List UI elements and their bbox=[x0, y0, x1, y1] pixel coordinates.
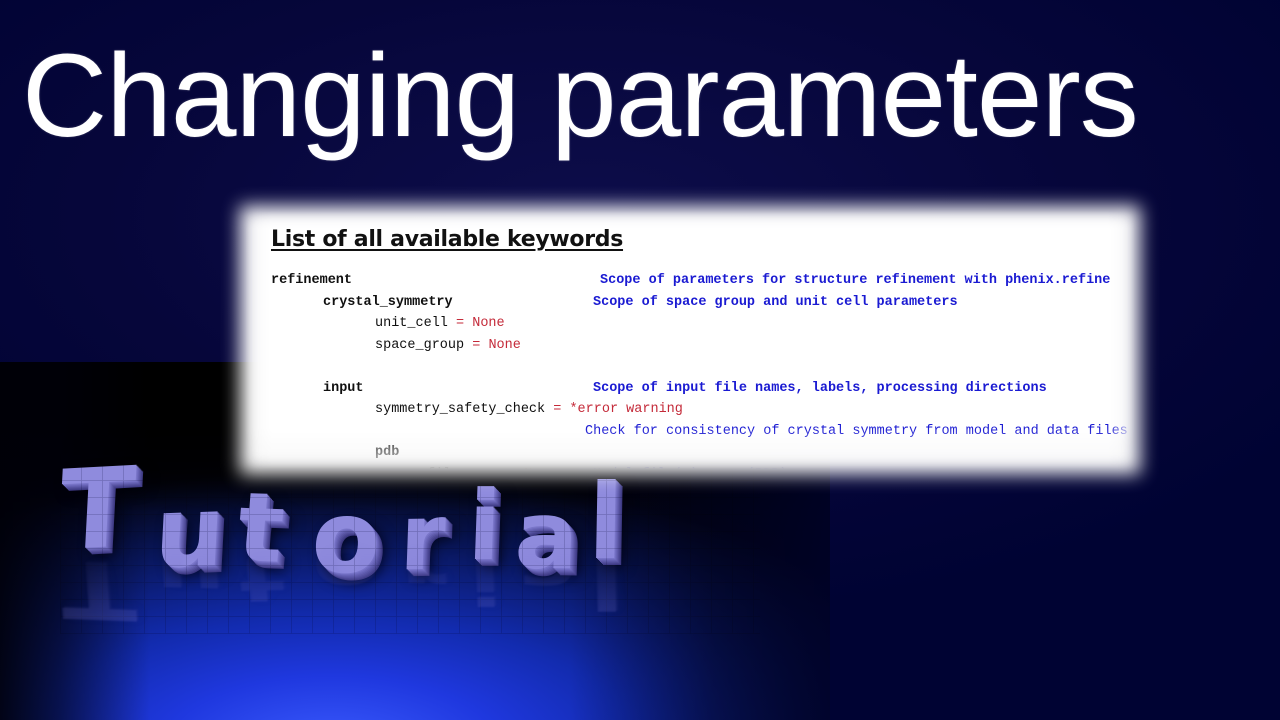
keyword-name: refinement bbox=[271, 273, 352, 288]
keyword-row: file_name = NoneModel file(s) name (PDB) bbox=[245, 467, 1135, 470]
keyword-equals: = bbox=[448, 316, 472, 331]
keyword-row: space_group = None bbox=[245, 338, 1135, 360]
keyword-name: file_name = None bbox=[427, 467, 557, 470]
keyword-value: None bbox=[488, 338, 520, 353]
keyword-name: input bbox=[323, 381, 364, 396]
keyword-equals: = bbox=[500, 467, 524, 470]
keyword-row: symmetry_safety_check = *error warning bbox=[245, 402, 1135, 424]
keyword-row bbox=[245, 359, 1135, 381]
keyword-equals: = bbox=[545, 402, 569, 417]
keyword-row: Check for consistency of crystal symmetr… bbox=[245, 424, 1135, 446]
keyword-description: Check for consistency of crystal symmetr… bbox=[585, 424, 1128, 439]
tutorial-letter-reflection: t bbox=[234, 542, 288, 612]
keyword-row: pdb bbox=[245, 445, 1135, 467]
tutorial-letter-reflection: a bbox=[513, 536, 580, 604]
tutorial-letter-reflection: o bbox=[309, 533, 383, 606]
keyword-name: crystal_symmetry bbox=[323, 295, 453, 310]
keyword-name: pdb bbox=[375, 445, 399, 460]
panel-surface: List of all available keywords refinemen… bbox=[245, 211, 1135, 469]
keyword-value: None bbox=[472, 316, 504, 331]
tutorial-letter-reflection: l bbox=[587, 544, 624, 619]
keyword-value: None bbox=[524, 467, 556, 470]
keyword-name: symmetry_safety_check = *error warning bbox=[375, 402, 683, 417]
keyword-description: Model file(s) name (PDB) bbox=[593, 467, 787, 470]
keyword-row: inputScope of input file names, labels, … bbox=[245, 381, 1135, 403]
keyword-row: unit_cell = None bbox=[245, 316, 1135, 338]
keyword-row: refinementScope of parameters for struct… bbox=[245, 273, 1135, 295]
keywords-panel: List of all available keywords refinemen… bbox=[240, 206, 1140, 474]
slide-canvas: Changing parameters lairotuT Tutorial Li… bbox=[0, 0, 1280, 720]
tutorial-letter-reflection: r bbox=[398, 536, 447, 603]
tutorial-word-reflection: Tutorial bbox=[60, 522, 760, 630]
tutorial-letter-reflection: T bbox=[57, 549, 138, 631]
keyword-description: Scope of space group and unit cell param… bbox=[593, 295, 958, 310]
keyword-value: *error warning bbox=[569, 402, 682, 417]
tutorial-letter-reflection: u bbox=[152, 537, 227, 609]
keyword-name: space_group = None bbox=[375, 338, 521, 353]
keyword-list: refinementScope of parameters for struct… bbox=[245, 273, 1135, 469]
tutorial-letter-reflection: i bbox=[466, 544, 502, 613]
keyword-row: crystal_symmetryScope of space group and… bbox=[245, 295, 1135, 317]
keyword-name: unit_cell = None bbox=[375, 316, 505, 331]
keyword-description: Scope of parameters for structure refine… bbox=[600, 273, 1110, 288]
keyword-equals: = bbox=[464, 338, 488, 353]
keyword-description: Scope of input file names, labels, proce… bbox=[593, 381, 1047, 396]
panel-heading: List of all available keywords bbox=[271, 227, 623, 252]
slide-title: Changing parameters bbox=[22, 36, 1262, 156]
